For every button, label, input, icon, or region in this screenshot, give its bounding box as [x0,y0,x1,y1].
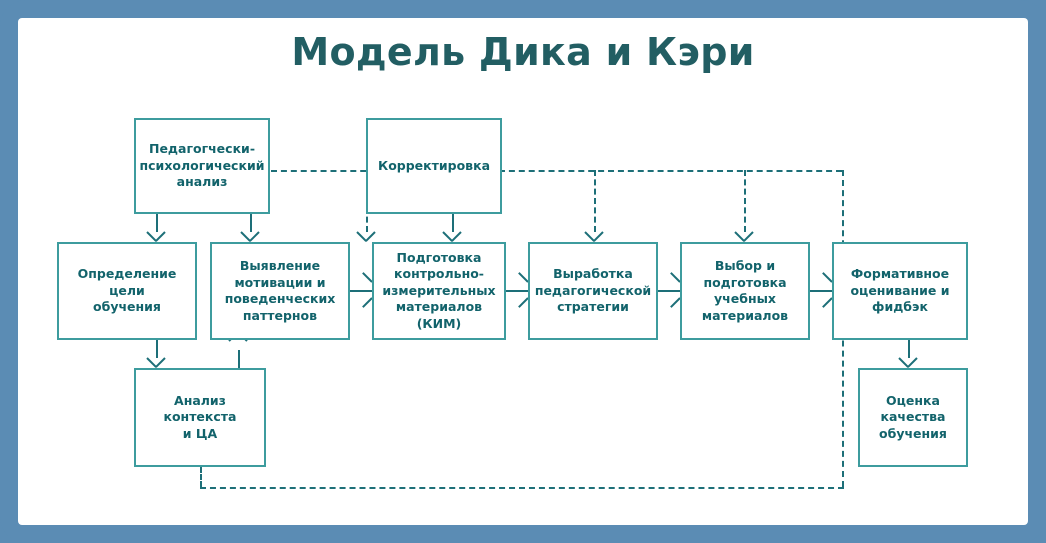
arrowhead-context-audience [147,357,165,368]
feedback-bus-bottom [200,487,844,489]
arrowhead-define-goal [147,231,165,242]
node-define-goal-label: Определение цели обучения [78,266,177,316]
arrowhead-quality-evaluation [899,357,917,368]
page-title: Модель Дика и Кэри [18,30,1028,74]
arrowhead-motivation-patterns-top [241,231,259,242]
node-motivation-patterns[interactable]: Выявление мотивации и поведенческих патт… [210,242,350,340]
node-learning-materials[interactable]: Выбор и подготовка учебных материалов [680,242,810,340]
edge-pedagogical-analysis-to-define-goal [156,214,158,232]
feedback-branch-to-context-audience [200,467,202,487]
node-pedagogical-analysis-label: Педагогчески- психологический анализ [140,141,265,191]
node-context-audience-label: Анализ контекста и ЦА [163,393,236,443]
node-learning-materials-label: Выбор и подготовка учебных материалов [702,258,788,324]
feedback-branch-to-learning-materials [744,170,746,232]
feedback-arrowhead-to-pedagogical-strategy [585,231,603,242]
node-kim-preparation[interactable]: Подготовка контрольно- измерительных мат… [372,242,506,340]
diagram-canvas: Модель Дика и Кэри [18,18,1028,525]
node-correction-label: Корректировка [378,158,490,175]
node-pedagogical-strategy[interactable]: Выработка педагогической стратегии [528,242,658,340]
feedback-branch-to-pedagogical-strategy [594,170,596,232]
feedback-arrowhead-to-motivation-patterns [357,231,375,242]
node-motivation-patterns-label: Выявление мотивации и поведенческих патт… [225,258,336,324]
node-quality-evaluation-label: Оценка качества обучения [879,393,947,443]
arrowhead-learning-materials-left [669,281,680,299]
feedback-arrowhead-to-learning-materials [735,231,753,242]
node-formative-assessment[interactable]: Формативное оценивание и фидбэк [832,242,968,340]
arrowhead-formative-assessment-left [821,281,832,299]
node-kim-preparation-label: Подготовка контрольно- измерительных мат… [378,250,500,333]
edge-correction-to-kim-preparation [452,214,454,232]
arrowhead-pedagogical-strategy-left [517,281,528,299]
arrowhead-motivation-patterns-bottom [229,340,247,351]
edge-formative-assessment-to-quality-evaluation [908,340,910,358]
node-pedagogical-analysis[interactable]: Педагогчески- психологический анализ [134,118,270,214]
poster-frame: Модель Дика и Кэри [0,0,1046,543]
node-define-goal[interactable]: Определение цели обучения [57,242,197,340]
edge-define-goal-to-context-audience [156,340,158,358]
node-context-audience[interactable]: Анализ контекста и ЦА [134,368,266,467]
node-quality-evaluation[interactable]: Оценка качества обучения [858,368,968,467]
node-pedagogical-strategy-label: Выработка педагогической стратегии [535,266,651,316]
arrowhead-kim-preparation-left [361,281,372,299]
node-correction[interactable]: Корректировка [366,118,502,214]
node-formative-assessment-label: Формативное оценивание и фидбэк [850,266,949,316]
arrowhead-kim-preparation-top [443,231,461,242]
edge-pedagogical-analysis-to-motivation-patterns [250,214,252,232]
feedback-bus-top [271,170,842,172]
edge-context-audience-to-motivation-patterns [238,350,240,368]
